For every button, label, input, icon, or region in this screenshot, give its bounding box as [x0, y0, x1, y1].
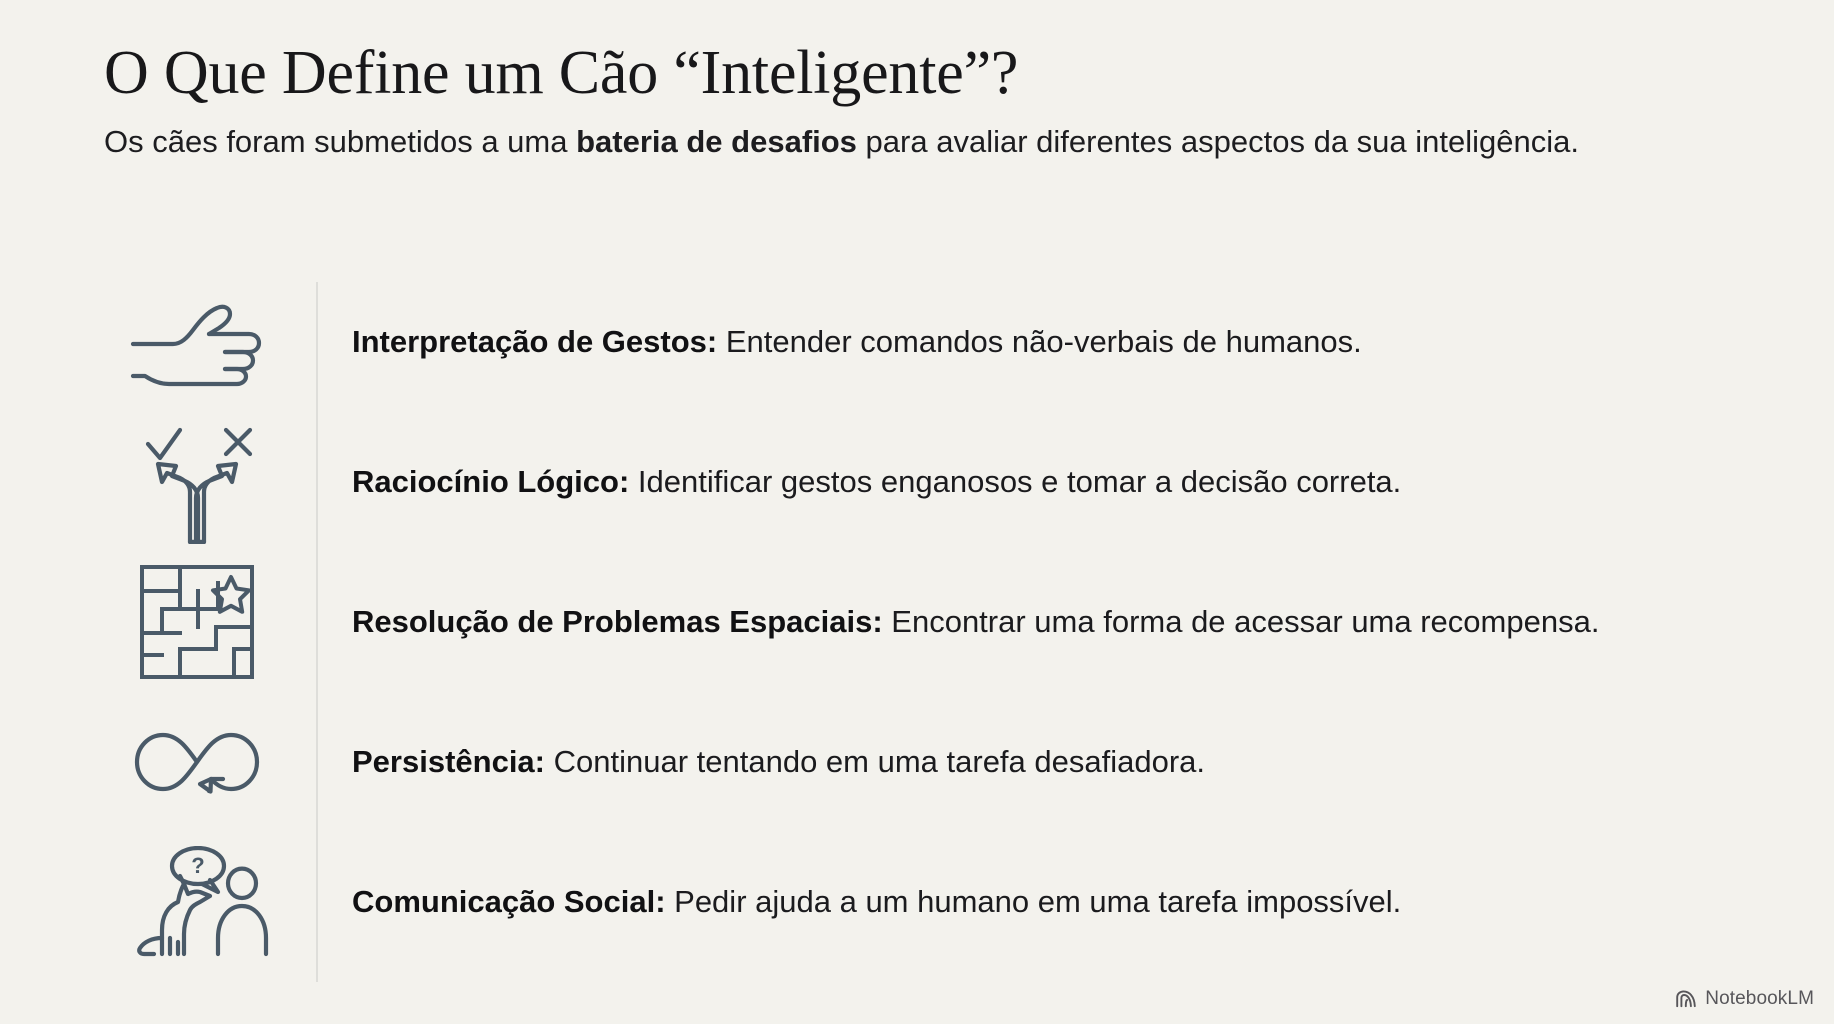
list-item-text: Resolução de Problemas Espaciais: Encont… — [300, 601, 1642, 642]
maze-star-icon — [104, 563, 300, 681]
infinity-loop-arrow-icon — [104, 721, 300, 803]
list-item-text: Interpretação de Gestos: Entender comand… — [300, 321, 1642, 362]
list-item: Raciocínio Lógico: Identificar gestos en… — [104, 412, 1724, 552]
page-title: O Que Define um Cão “Inteligente”? — [104, 40, 1664, 107]
list-item-description: Identificar gestos enganosos e tomar a d… — [629, 464, 1401, 499]
list-item-term: Interpretação de Gestos: — [352, 324, 717, 359]
list-item-term: Resolução de Problemas Espaciais: — [352, 604, 883, 639]
list-item-term: Raciocínio Lógico: — [352, 464, 629, 499]
list-item: Persistência: Continuar tentando em uma … — [104, 692, 1724, 832]
list-item-term: Persistência: — [352, 744, 545, 779]
notebooklm-watermark: NotebookLM — [1675, 988, 1814, 1010]
list-item-description: Pedir ajuda a um humano em uma tarefa im… — [666, 884, 1402, 919]
subtitle-emphasis: bateria de desafios — [576, 124, 857, 159]
dog-person-question-icon: ? — [104, 846, 300, 958]
list-item-description: Entender comandos não-verbais de humanos… — [717, 324, 1362, 359]
list-item-term: Comunicação Social: — [352, 884, 666, 919]
svg-text:?: ? — [191, 853, 204, 878]
list-item: Interpretação de Gestos: Entender comand… — [104, 272, 1724, 412]
pointing-hand-icon — [104, 296, 300, 388]
content-area: Interpretação de Gestos: Entender comand… — [104, 272, 1724, 972]
notebooklm-label: NotebookLM — [1705, 988, 1814, 1010]
list-item-text: Raciocínio Lógico: Identificar gestos en… — [300, 461, 1642, 502]
capability-list: Interpretação de Gestos: Entender comand… — [104, 272, 1724, 972]
notebooklm-spiral-icon — [1675, 990, 1697, 1008]
page-subtitle: Os cães foram submetidos a uma bateria d… — [104, 121, 1604, 163]
subtitle-part-1: Os cães foram submetidos a uma — [104, 124, 576, 159]
list-item-description: Continuar tentando em uma tarefa desafia… — [545, 744, 1205, 779]
slide-canvas: O Que Define um Cão “Inteligente”? Os cã… — [0, 0, 1834, 1024]
forked-arrow-check-x-icon — [104, 420, 300, 544]
list-item-text: Persistência: Continuar tentando em uma … — [300, 741, 1642, 782]
list-item: Resolução de Problemas Espaciais: Encont… — [104, 552, 1724, 692]
list-item: ? Comunicação Social: Pedir ajuda a um h… — [104, 832, 1724, 972]
slide-header: O Que Define um Cão “Inteligente”? Os cã… — [104, 40, 1664, 162]
subtitle-part-2: para avaliar diferentes aspectos da sua … — [857, 124, 1579, 159]
list-item-text: Comunicação Social: Pedir ajuda a um hum… — [300, 881, 1642, 922]
list-item-description: Encontrar uma forma de acessar uma recom… — [883, 604, 1600, 639]
